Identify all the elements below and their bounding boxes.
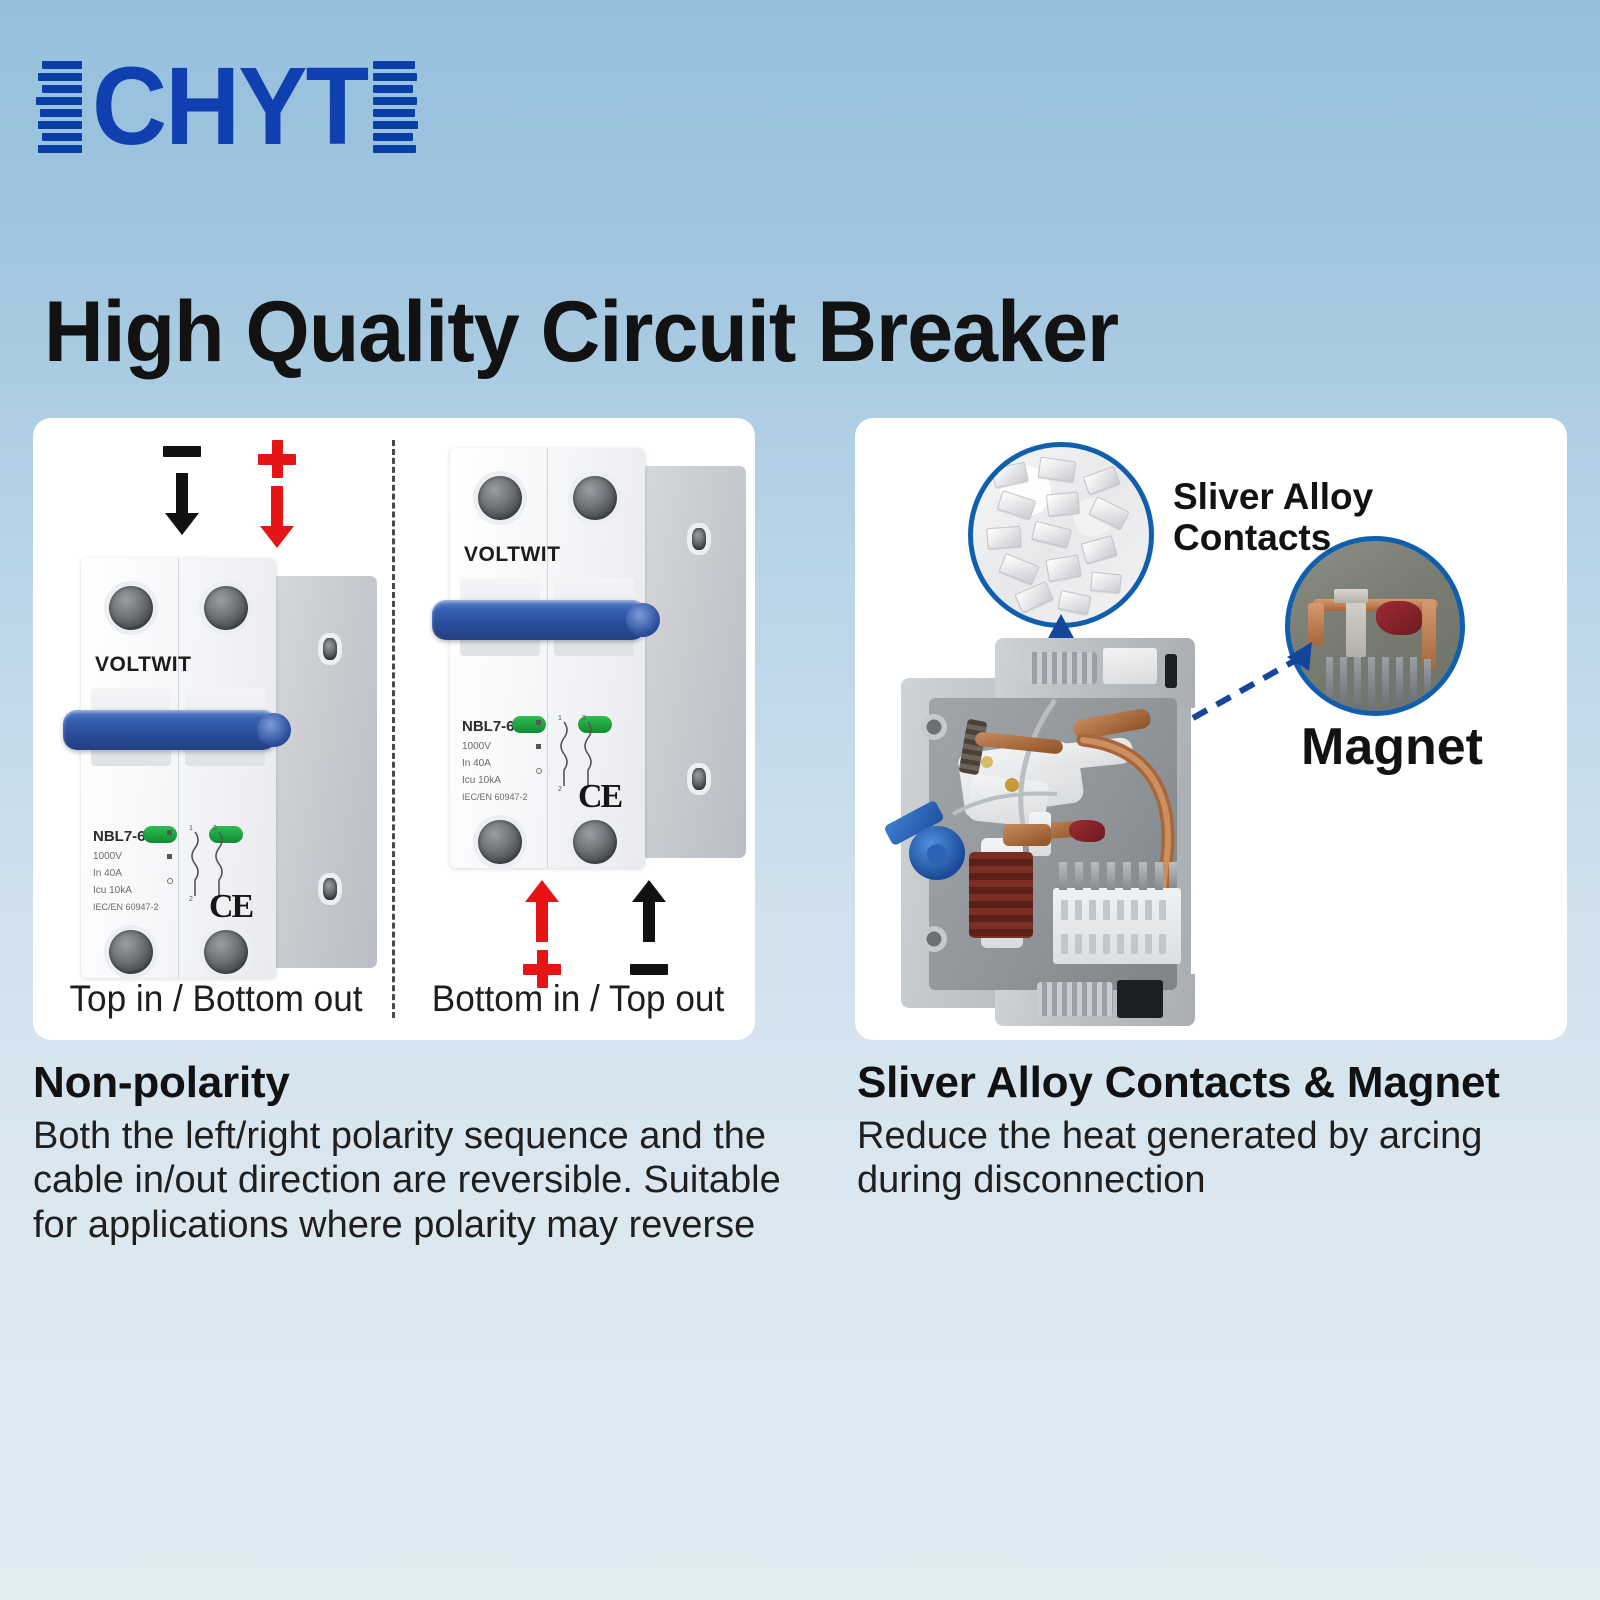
feature-block-contacts-magnet: Sliver Alloy Contacts & Magnet Reduce th… (857, 1058, 1577, 1203)
terminal-top-right (573, 476, 617, 520)
svg-text:2: 2 (189, 896, 193, 902)
lever-cap (626, 603, 660, 637)
logo-bars-left-icon (36, 57, 82, 157)
minus-sign-icon (163, 446, 201, 457)
knob-center (927, 844, 947, 864)
svg-text:2: 2 (558, 786, 562, 792)
feature-title: Non-polarity (33, 1058, 803, 1108)
breaker-cutaway-photo (877, 626, 1277, 1026)
device-spec-current: In 40A (462, 757, 491, 772)
mark-bottom-positive (523, 880, 561, 988)
feature-block-non-polarity: Non-polarity Both the left/right polarit… (33, 1058, 803, 1247)
brand-logo: CHYT (36, 52, 418, 162)
page-title: High Quality Circuit Breaker (44, 283, 1118, 382)
breaker-lever[interactable] (432, 600, 646, 640)
terminal-screw-bottom (1037, 982, 1113, 1016)
caption-top-in-bottom-out: Top in / Bottom out (69, 978, 364, 1020)
mark-top-positive (258, 440, 296, 548)
svg-text:3: 3 (582, 715, 586, 722)
terminal-dots-icon (536, 720, 546, 780)
minus-sign-icon (630, 964, 668, 975)
logo-wordmark: CHYT (92, 52, 367, 162)
inset-silver-alloy-contacts (968, 442, 1154, 628)
breaker-front-body: VOLTWIT NBL7-63 1000V In 40A Icu 10kA IE… (81, 558, 276, 978)
plus-sign-icon (258, 440, 296, 478)
side-screw-icon (692, 528, 706, 550)
device-brand-label: VOLTWIT (95, 653, 191, 677)
coil-lead (1003, 824, 1051, 846)
breaker-front-body: VOLTWIT NBL7-63 1000V In 40A Icu 10kA IE… (450, 448, 645, 868)
terminal-top-right (204, 586, 248, 630)
arc-splitter-fins (1053, 862, 1181, 890)
terminal-top-left (109, 586, 153, 630)
callout-label-magnet: Magnet (1301, 718, 1483, 776)
feature-body: Both the left/right polarity sequence an… (33, 1114, 803, 1247)
terminal-screw (1027, 652, 1097, 684)
side-screw-icon (323, 878, 337, 900)
mark-bottom-negative (630, 880, 668, 975)
svg-text:3: 3 (213, 825, 217, 832)
pole-divider (547, 448, 548, 868)
terminal-block-bottom (1117, 980, 1163, 1018)
mounting-hole (921, 926, 947, 952)
feature-body: Reduce the heat generated by arcing duri… (857, 1114, 1577, 1203)
feature-title: Sliver Alloy Contacts & Magnet (857, 1058, 1577, 1108)
panel-divider (392, 440, 395, 1018)
arc-runner (1069, 820, 1105, 842)
side-screw-icon (692, 768, 706, 790)
terminal-top-left (478, 476, 522, 520)
terminal-dots-icon (167, 830, 177, 890)
caption-bottom-in-top-out: Bottom in / Top out (431, 978, 726, 1020)
terminal-bottom-right (573, 820, 617, 864)
side-screw-icon (323, 638, 337, 660)
svg-text:1: 1 (558, 715, 562, 722)
arc-chute (1053, 888, 1181, 964)
terminal-bottom-left (109, 930, 153, 974)
arrow-down-black-icon (165, 473, 199, 535)
ce-mark-label: CE (578, 778, 621, 816)
device-spec-standard: IEC/EN 60947-2 (462, 791, 528, 804)
logo-bars-right-icon (373, 57, 418, 157)
svg-text:1: 1 (189, 825, 193, 832)
terminal-bottom-right (204, 930, 248, 974)
solenoid-coil (969, 852, 1033, 938)
arrow-up-black-icon (632, 880, 666, 942)
device-brand-label: VOLTWIT (464, 543, 560, 567)
terminal-block-white (1103, 648, 1157, 684)
terminal-post (1165, 654, 1177, 688)
arrow-up-red-icon (525, 880, 559, 942)
device-spec-current: In 40A (93, 867, 122, 882)
mark-top-negative (163, 446, 201, 535)
ce-mark-label: CE (209, 888, 252, 926)
pole-divider (178, 558, 179, 978)
device-spec-breaking: Icu 10kA (462, 774, 501, 789)
right-feature-panel: Sliver Alloy Contacts Magnet (855, 418, 1567, 1040)
mounting-hole (921, 714, 947, 740)
terminal-bottom-left (478, 820, 522, 864)
circuit-breaker-device-2: VOLTWIT NBL7-63 1000V In 40A Icu 10kA IE… (430, 448, 750, 868)
device-spec-standard: IEC/EN 60947-2 (93, 901, 159, 914)
arrow-down-red-icon (260, 486, 294, 548)
device-spec-voltage: 1000V (93, 850, 122, 865)
circuit-breaker-device-1: VOLTWIT NBL7-63 1000V In 40A Icu 10kA IE… (61, 558, 381, 978)
left-feature-panel: VOLTWIT NBL7-63 1000V In 40A Icu 10kA IE… (33, 418, 755, 1040)
breaker-lever[interactable] (63, 710, 277, 750)
lever-cap (257, 713, 291, 747)
device-spec-breaking: Icu 10kA (93, 884, 132, 899)
device-spec-voltage: 1000V (462, 740, 491, 755)
callout-line-1: Sliver Alloy (1173, 476, 1373, 517)
